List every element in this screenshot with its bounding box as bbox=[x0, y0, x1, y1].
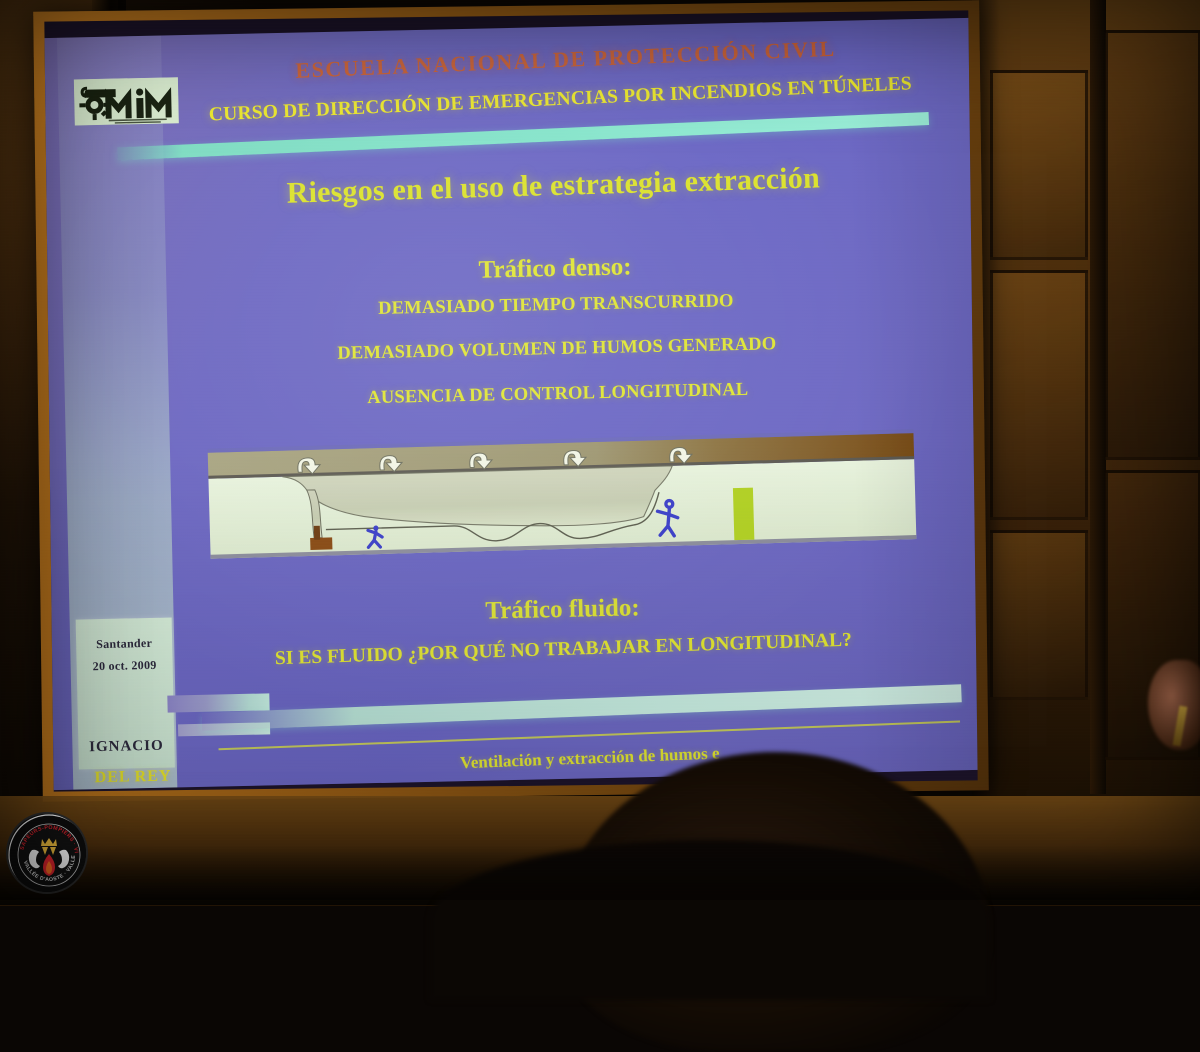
slide-author-first-name: IGNACIO bbox=[78, 737, 174, 756]
slide-lead-dense-traffic: Tráfico denso: bbox=[160, 246, 950, 291]
door-panel bbox=[1105, 30, 1200, 460]
photo-scene: Santander 20 oct. 2009 IGNACIO DEL REY bbox=[0, 0, 1200, 900]
door-panel bbox=[990, 530, 1088, 700]
projection-screen-frame: Santander 20 oct. 2009 IGNACIO DEL REY bbox=[33, 0, 989, 801]
tunnel-diagram-svg bbox=[201, 425, 922, 567]
tunnel-diagram bbox=[201, 425, 922, 567]
audience-head-silhouette bbox=[430, 840, 990, 1000]
presentation-slide: Santander 20 oct. 2009 IGNACIO DEL REY bbox=[44, 18, 977, 790]
door-panel bbox=[990, 270, 1088, 520]
slide-question-line: SI ES FLUIDO ¿POR QUÉ NO TRABAJAR EN LON… bbox=[148, 626, 977, 675]
slide-lead-fluid-traffic: Tráfico fluido: bbox=[167, 587, 957, 632]
slide-city-label: Santander bbox=[76, 635, 172, 652]
slide-main-title: Riesgos en el uso de estrategia extracci… bbox=[158, 158, 949, 215]
slide-bullet: AUSENCIA DE CONTROL LONGITUDINAL bbox=[163, 375, 953, 413]
traffic-barrier bbox=[733, 488, 754, 541]
door-panel bbox=[990, 70, 1088, 260]
projection-screen-surface: Santander 20 oct. 2009 IGNACIO DEL REY bbox=[44, 10, 977, 791]
door-stile bbox=[1090, 0, 1106, 794]
vigili-del-fuoco-watermark: SAPEURS-POMPIERS · VIGILI DEL FUOCO VALL… bbox=[6, 812, 88, 894]
slide-author-last-name: DEL REY bbox=[79, 767, 187, 787]
slide-bullet: DEMASIADO TIEMPO TRANSCURRIDO bbox=[161, 286, 951, 324]
slide-bullet: DEMASIADO VOLUMEN DE HUMOS GENERADO bbox=[162, 330, 952, 368]
slide-side-band bbox=[167, 693, 269, 712]
